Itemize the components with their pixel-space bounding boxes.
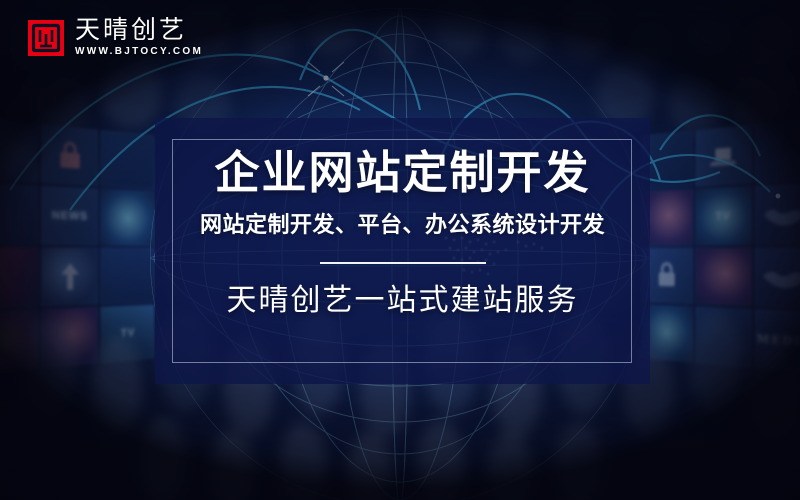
logo-company-name: 天晴创艺 — [75, 17, 203, 43]
panel-content: 企业网站定制开发 网站定制开发、平台、办公系统设计开发 天晴创艺一站式建站服务 — [155, 118, 650, 384]
divider-line — [320, 262, 486, 264]
arrow-up-icon — [59, 261, 80, 292]
world-map-icon — [760, 263, 800, 292]
brand-logo[interactable]: 天晴创艺 WWW.BJTOCY.COM — [28, 17, 203, 58]
logo-mark-icon — [28, 20, 64, 56]
promo-banner: NEWS TV TV — [0, 0, 800, 500]
page-subtitle: 网站定制开发、平台、办公系统设计开发 — [200, 211, 605, 241]
headline-panel: 企业网站定制开发 网站定制开发、平台、办公系统设计开发 天晴创艺一站式建站服务 — [155, 118, 650, 384]
page-title: 企业网站定制开发 — [214, 144, 590, 202]
logo-website-url: WWW.BJTOCY.COM — [75, 45, 203, 58]
logo-text-block: 天晴创艺 WWW.BJTOCY.COM — [75, 17, 203, 58]
page-tagline: 天晴创艺一站式建站服务 — [227, 281, 579, 321]
